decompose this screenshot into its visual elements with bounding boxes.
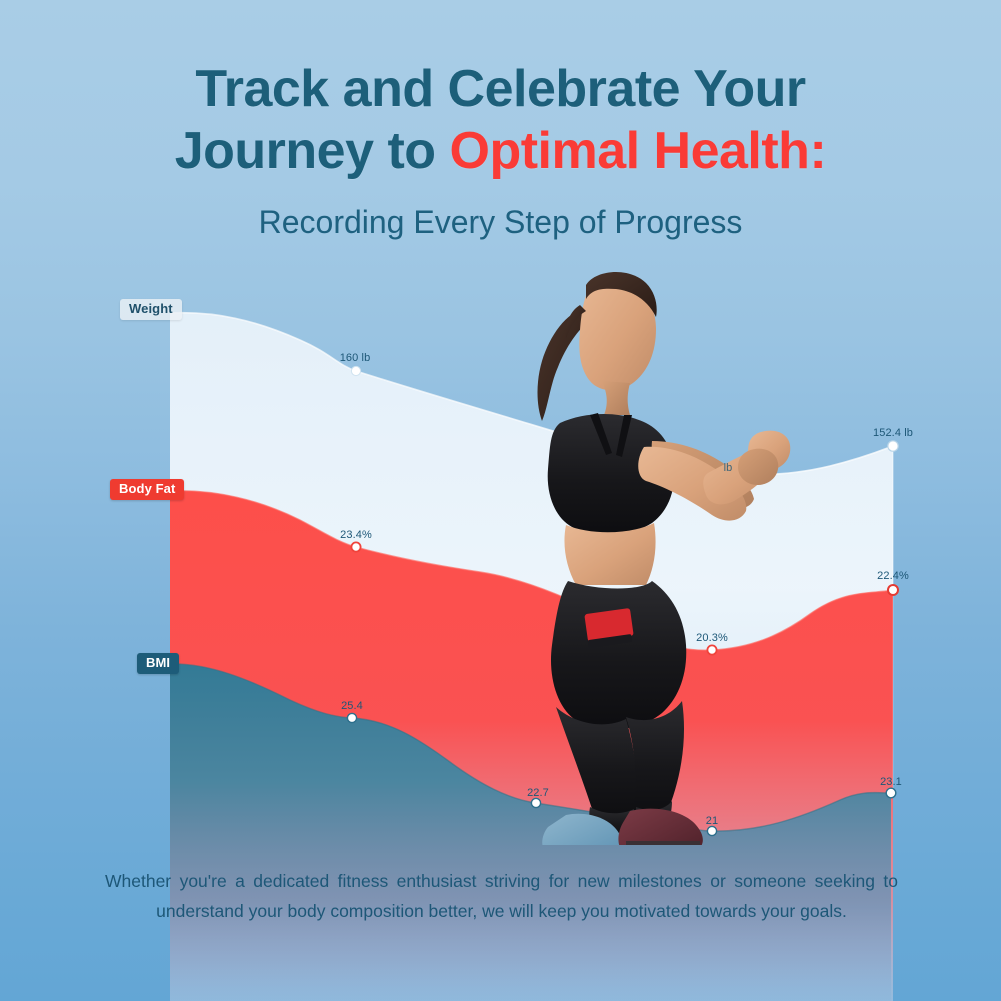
title-line-2-prefix: Journey to: [175, 122, 450, 180]
body-paragraph-block: Whether you're a dedicated fitness enthu…: [105, 866, 898, 926]
title-line-2: Journey to Optimal Health:: [0, 120, 1001, 182]
series-badge-bmi[interactable]: BMI: [137, 653, 179, 674]
datapoint-label-bmi-4: 23.1: [880, 776, 902, 788]
page-subtitle: Recording Every Step of Progress: [0, 204, 1001, 240]
datapoint-label-bmi-2: 22.7: [527, 787, 549, 799]
header-block: Track and Celebrate Your Journey to Opti…: [0, 58, 1001, 240]
marker-bodyfat-203[interactable]: [707, 645, 716, 654]
datapoint-label-bmi-1: 25.4: [341, 700, 363, 712]
series-badge-body-fat[interactable]: Body Fat: [110, 479, 184, 500]
datapoint-label-bodyfat-1: 23.4%: [340, 529, 372, 541]
datapoint-label-weight-4: 152.4 lb: [873, 427, 913, 439]
body-paragraph: Whether you're a dedicated fitness enthu…: [105, 866, 898, 926]
series-badge-weight[interactable]: Weight: [120, 299, 182, 320]
marker-bmi-254[interactable]: [347, 713, 356, 722]
datapoint-label-weight-3: lb: [724, 462, 733, 474]
marker-bmi-227[interactable]: [531, 798, 540, 807]
marker-weight-160[interactable]: [351, 366, 360, 375]
datapoint-label-bmi-3: 21: [706, 815, 718, 827]
title-line-1: Track and Celebrate Your: [0, 58, 1001, 120]
datapoint-label-bodyfat-3: 20.3%: [696, 632, 728, 644]
marker-bmi-21[interactable]: [707, 826, 716, 835]
infographic-canvas: Weight Body Fat BMI 160 lb lb 152.4 lb 2…: [0, 0, 1001, 1001]
marker-weight-152[interactable]: [888, 441, 898, 451]
datapoint-label-weight-1: 160 lb: [340, 352, 371, 364]
page-title: Track and Celebrate Your Journey to Opti…: [0, 58, 1001, 182]
datapoint-label-bodyfat-4: 22.4%: [877, 570, 909, 582]
title-line-2-accent: Optimal Health:: [450, 122, 827, 180]
marker-bodyfat-234[interactable]: [351, 542, 360, 551]
marker-bmi-231[interactable]: [886, 788, 896, 798]
marker-bodyfat-224[interactable]: [888, 585, 898, 595]
